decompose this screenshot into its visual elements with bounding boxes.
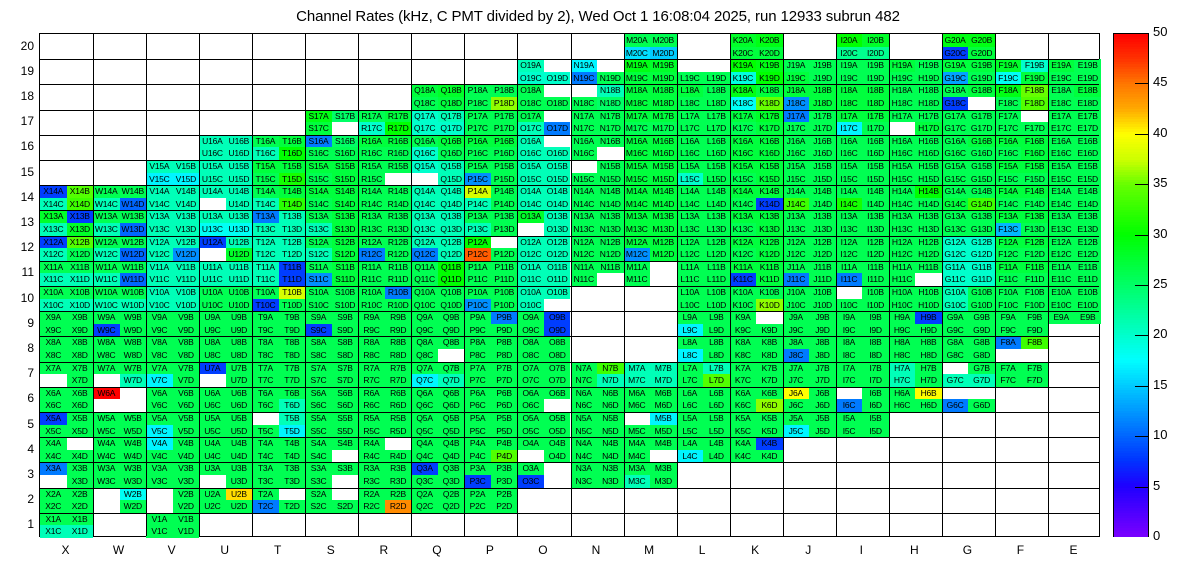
- heatmap-cell: H8B: [915, 336, 942, 349]
- heatmap-cell: F17C: [995, 122, 1022, 135]
- heatmap-cell: S4A: [305, 437, 332, 450]
- heatmap-cell: H11B: [915, 261, 942, 274]
- heatmap-cell: V10D: [173, 299, 200, 312]
- heatmap-cell: M16B: [650, 135, 677, 148]
- heatmap-cell: M4A: [624, 437, 651, 450]
- heatmap-cell: M6C: [624, 399, 651, 412]
- heatmap-cell: J7C: [783, 374, 810, 387]
- x-axis-tick-label: S: [311, 543, 351, 557]
- heatmap-cell: P13B: [491, 210, 518, 223]
- heatmap-cell: S10C: [305, 299, 332, 312]
- heatmap-cell: M11C: [624, 273, 651, 286]
- heatmap-cell: W14D: [120, 198, 147, 211]
- heatmap-cell: U2D: [226, 500, 253, 513]
- heatmap-cell: V7A: [146, 362, 173, 375]
- heatmap-cell: V7B: [173, 362, 200, 375]
- colorbar-tick-label: 40: [1153, 125, 1167, 140]
- y-axis-tick-label: 18: [4, 89, 34, 103]
- heatmap-cell: M15C: [624, 173, 651, 186]
- heatmap-cell: T16A: [252, 135, 279, 148]
- heatmap-cell: S9C: [305, 324, 332, 337]
- heatmap-cell: N3A: [571, 462, 598, 475]
- heatmap-cell: L8A: [677, 336, 704, 349]
- heatmap-cell: F14C: [995, 198, 1022, 211]
- heatmap-cell: Q6B: [438, 387, 465, 400]
- heatmap-cell: Q3C: [411, 475, 438, 488]
- heatmap-cell: F15B: [1021, 160, 1048, 173]
- heatmap-cell: G17A: [942, 110, 969, 123]
- x-axis-tick-label: N: [576, 543, 616, 557]
- heatmap-cell: H13D: [915, 223, 942, 236]
- heatmap-cell: O6B: [544, 387, 571, 400]
- heatmap-cell: L12D: [703, 248, 730, 261]
- heatmap-cell: I13D: [862, 223, 889, 236]
- heatmap-cell: J6B: [809, 387, 836, 400]
- heatmap-cell: Q11D: [438, 273, 465, 286]
- heatmap-cell: O15D: [544, 173, 571, 186]
- heatmap-cell: W4C: [93, 450, 120, 463]
- heatmap-cell: K6A: [730, 387, 757, 400]
- heatmap-cell: Q16B: [438, 135, 465, 148]
- heatmap-cell: H6B: [915, 387, 942, 400]
- heatmap-cell: J13B: [809, 210, 836, 223]
- heatmap-cell: H17A: [889, 110, 916, 123]
- heatmap-cell: Q10D: [438, 299, 465, 312]
- heatmap-cell: U15B: [226, 160, 253, 173]
- heatmap-cell: U8D: [226, 349, 253, 362]
- heatmap-cell: G9C: [942, 324, 969, 337]
- heatmap-cell: O7C: [517, 374, 544, 387]
- heatmap-cell: I19B: [862, 59, 889, 72]
- heatmap-cell: M3C: [624, 475, 651, 488]
- heatmap-cell: O5B: [544, 412, 571, 425]
- heatmap-cell: J18D: [809, 97, 836, 110]
- heatmap-cell: M11A: [624, 261, 651, 274]
- heatmap-cell: W4B: [120, 437, 147, 450]
- heatmap-cell: Q5A: [411, 412, 438, 425]
- heatmap-cell: P11D: [491, 273, 518, 286]
- heatmap-cell: X3D: [67, 475, 94, 488]
- heatmap-cell: Q2D: [438, 500, 465, 513]
- heatmap-cell: O13A: [517, 210, 544, 223]
- heatmap-cell: R16C: [358, 147, 385, 160]
- heatmap-cell: G11B: [968, 261, 995, 274]
- heatmap-cell: T12C: [252, 248, 279, 261]
- heatmap-cell: V3B: [173, 462, 200, 475]
- heatmap-cell: I12B: [862, 236, 889, 249]
- heatmap-cell: T16D: [279, 147, 306, 160]
- heatmap-cell: P6D: [491, 399, 518, 412]
- heatmap-cell: S6B: [332, 387, 359, 400]
- heatmap-cell: K12D: [756, 248, 783, 261]
- heatmap-cell: V5D: [173, 425, 200, 438]
- heatmap-cell: P8A: [464, 336, 491, 349]
- heatmap-cell: T16C: [252, 147, 279, 160]
- heatmap-cell: L10C: [677, 299, 704, 312]
- heatmap-cell: F11D: [1021, 273, 1048, 286]
- heatmap-cell: T3A: [252, 462, 279, 475]
- heatmap-cell: P7B: [491, 362, 518, 375]
- heatmap-cell: M14A: [624, 185, 651, 198]
- heatmap-cell: M4C: [624, 450, 651, 463]
- heatmap-cell: M12B: [650, 236, 677, 249]
- heatmap-cell: G6D: [968, 399, 995, 412]
- heatmap-cell: K20C: [730, 47, 757, 60]
- heatmap-cell: P2B: [491, 488, 518, 501]
- heatmap-cell: P6A: [464, 387, 491, 400]
- heatmap-cell: E12D: [1074, 248, 1101, 261]
- colorbar-tick-mark: [1135, 285, 1149, 286]
- x-axis-tick-label: J: [788, 543, 828, 557]
- heatmap-cell: P18C: [464, 97, 491, 110]
- heatmap-cell: N15D: [597, 173, 624, 186]
- heatmap-cell: K15D: [756, 173, 783, 186]
- heatmap-cell: M5B: [650, 412, 677, 425]
- heatmap-cell: L4C: [677, 450, 704, 463]
- heatmap-cell: W6A: [93, 387, 120, 400]
- heatmap-cell: I7C: [836, 374, 863, 387]
- y-axis-tick-label: 20: [4, 39, 34, 53]
- heatmap-cell: K8C: [730, 349, 757, 362]
- heatmap-cell: N18C: [571, 97, 598, 110]
- heatmap-cell: I15D: [862, 173, 889, 186]
- heatmap-cell: P11B: [491, 261, 518, 274]
- heatmap-cell: W9A: [93, 311, 120, 324]
- heatmap-cell: H7C: [889, 374, 916, 387]
- heatmap-cell: M16D: [650, 147, 677, 160]
- heatmap-cell: L8C: [677, 349, 704, 362]
- heatmap-cell: K11B: [756, 261, 783, 274]
- heatmap-cell: M3B: [650, 462, 677, 475]
- heatmap-cell: O18C: [517, 97, 544, 110]
- heatmap-cell: S14C: [305, 198, 332, 211]
- heatmap-cell: M14B: [650, 185, 677, 198]
- heatmap-cell: S14D: [332, 198, 359, 211]
- heatmap-cell: F9B: [1021, 311, 1048, 324]
- heatmap-cell: W5A: [93, 412, 120, 425]
- heatmap-cell: N12B: [597, 236, 624, 249]
- heatmap-cell: N16B: [597, 135, 624, 148]
- heatmap-cell: M14C: [624, 198, 651, 211]
- heatmap-cell: J13D: [809, 223, 836, 236]
- heatmap-cell: R7D: [385, 374, 412, 387]
- heatmap-cell: J11C: [783, 273, 810, 286]
- y-axis-tick-label: 3: [4, 467, 34, 481]
- heatmap-cell: O4A: [517, 437, 544, 450]
- heatmap-cell: I9A: [836, 311, 863, 324]
- heatmap-cell: W7D: [120, 374, 147, 387]
- heatmap-cell: T13C: [252, 223, 279, 236]
- heatmap-cell: T14B: [279, 185, 306, 198]
- x-axis-tick-label: H: [894, 543, 934, 557]
- heatmap-cell: N14C: [571, 198, 598, 211]
- heatmap-cell: O7D: [544, 374, 571, 387]
- heatmap-cell: F15A: [995, 160, 1022, 173]
- heatmap-cell: E12A: [1048, 236, 1075, 249]
- heatmap-cell: N3B: [597, 462, 624, 475]
- heatmap-cell: S16B: [332, 135, 359, 148]
- heatmap-cell: K13A: [730, 210, 757, 223]
- heatmap-cell: L13B: [703, 210, 730, 223]
- heatmap-cell: G16D: [968, 147, 995, 160]
- heatmap-cell: R6A: [358, 387, 385, 400]
- heatmap-cell: N7B: [597, 362, 624, 375]
- heatmap-cell: O6A: [517, 387, 544, 400]
- heatmap-cell: P3A: [464, 462, 491, 475]
- heatmap-cell: Q5D: [438, 425, 465, 438]
- heatmap-cell: J8D: [809, 349, 836, 362]
- heatmap-cell: E14D: [1074, 198, 1101, 211]
- heatmap-cell: O11D: [544, 273, 571, 286]
- heatmap-cell: S7A: [305, 362, 332, 375]
- y-axis-tick-label: 10: [4, 291, 34, 305]
- heatmap-cell: N16A: [571, 135, 598, 148]
- heatmap-cell: W13B: [120, 210, 147, 223]
- heatmap-cell: T15C: [252, 173, 279, 186]
- heatmap-cell: K14C: [730, 198, 757, 211]
- x-axis-tick-label: T: [258, 543, 298, 557]
- heatmap-cell: P6B: [491, 387, 518, 400]
- heatmap-cell: J12C: [783, 248, 810, 261]
- heatmap-cell: G14C: [942, 198, 969, 211]
- heatmap-cell: T15A: [252, 160, 279, 173]
- colorbar-tick-label: 10: [1153, 427, 1167, 442]
- heatmap-cell: R5D: [385, 425, 412, 438]
- heatmap-cell: G9A: [942, 311, 969, 324]
- heatmap-cell: X4C: [40, 450, 67, 463]
- heatmap-cell: R5B: [385, 412, 412, 425]
- heatmap-cell: H17D: [915, 122, 942, 135]
- heatmap-cell: P5B: [491, 412, 518, 425]
- heatmap-cell: K5A: [730, 412, 757, 425]
- heatmap-cell: F16A: [995, 135, 1022, 148]
- heatmap-cell: I18C: [836, 97, 863, 110]
- heatmap-cell: U10A: [199, 286, 226, 299]
- heatmap-cell: R10C: [358, 299, 385, 312]
- heatmap-cell: Q11B: [438, 261, 465, 274]
- heatmap-cell: J18A: [783, 84, 810, 97]
- heatmap-cell: R15B: [385, 160, 412, 173]
- heatmap-cell: R4C: [358, 450, 385, 463]
- heatmap-cell: P3C: [464, 475, 491, 488]
- heatmap-cell: I5C: [836, 425, 863, 438]
- heatmap-cell: S11C: [305, 273, 332, 286]
- heatmap-cell: X12A: [40, 236, 67, 249]
- heatmap-cell: F13A: [995, 210, 1022, 223]
- heatmap-cell: N16C: [571, 147, 598, 160]
- heatmap-cell: J6C: [783, 399, 810, 412]
- heatmap-cell: S8D: [332, 349, 359, 362]
- heatmap-cell: K4C: [730, 450, 757, 463]
- heatmap-cell: I19C: [836, 72, 863, 85]
- heatmap-cell: M7A: [624, 362, 651, 375]
- heatmap-cell: O16D: [544, 147, 571, 160]
- heatmap-cell: K8D: [756, 349, 783, 362]
- x-axis-tick-label: U: [205, 543, 245, 557]
- heatmap-cell: P12A: [464, 236, 491, 249]
- heatmap-cell: K18D: [756, 97, 783, 110]
- heatmap-cell: J16A: [783, 135, 810, 148]
- y-axis-tick-label: 8: [4, 341, 34, 355]
- heatmap-cell: J9C: [783, 324, 810, 337]
- heatmap-cell: S15A: [305, 160, 332, 173]
- heatmap-cell: E18C: [1048, 97, 1075, 110]
- heatmap-cell: E15D: [1074, 173, 1101, 186]
- heatmap-cell: L5A: [677, 412, 704, 425]
- heatmap-cell: T8C: [252, 349, 279, 362]
- heatmap-cell: M3D: [650, 475, 677, 488]
- heatmap-cell: H11C: [889, 273, 916, 286]
- heatmap-cell: L12C: [677, 248, 704, 261]
- heatmap-cell: P7A: [464, 362, 491, 375]
- heatmap-cell: X8A: [40, 336, 67, 349]
- heatmap-cell: Q4C: [411, 450, 438, 463]
- heatmap-cell: E17C: [1048, 122, 1075, 135]
- heatmap-cell: Q6A: [411, 387, 438, 400]
- heatmap-cell: L14D: [703, 198, 730, 211]
- heatmap-cell: X6A: [40, 387, 67, 400]
- heatmap-cell: Q13B: [438, 210, 465, 223]
- heatmap-cell: T4B: [279, 437, 306, 450]
- heatmap-cell: V5A: [146, 412, 173, 425]
- heatmap-cell: N7A: [571, 362, 598, 375]
- heatmap-cell: R10B: [385, 286, 412, 299]
- heatmap-cell: K20D: [756, 47, 783, 60]
- heatmap-cell: F17D: [1021, 122, 1048, 135]
- heatmap-cell: Q2C: [411, 500, 438, 513]
- heatmap-cell: V1B: [173, 513, 200, 526]
- heatmap-cell: K18B: [756, 84, 783, 97]
- heatmap-cell: R14A: [358, 185, 385, 198]
- heatmap-cell: R16B: [385, 135, 412, 148]
- heatmap-cell: U6C: [199, 399, 226, 412]
- heatmap-cell: W8C: [93, 349, 120, 362]
- colorbar-tick-mark: [1135, 83, 1149, 84]
- heatmap-cell: R17B: [385, 110, 412, 123]
- heatmap-cell: G10D: [968, 299, 995, 312]
- heatmap-cell: T2C: [252, 500, 279, 513]
- heatmap-cell: W5B: [120, 412, 147, 425]
- heatmap-cell: J9B: [809, 311, 836, 324]
- heatmap-cell: J6A: [783, 387, 810, 400]
- y-axis: 2019181716151413121110987654321: [0, 33, 34, 537]
- heatmap-cell: K5D: [756, 425, 783, 438]
- heatmap-cell: K11D: [756, 273, 783, 286]
- heatmap-cell: I8C: [836, 349, 863, 362]
- heatmap-cell: E16A: [1048, 135, 1075, 148]
- heatmap-cell: R2A: [358, 488, 385, 501]
- heatmap-cell: M5D: [650, 425, 677, 438]
- heatmap-cell: H15D: [915, 173, 942, 186]
- heatmap-cell: F12A: [995, 236, 1022, 249]
- heatmap-cell: U6D: [226, 399, 253, 412]
- heatmap-cell: U2A: [199, 488, 226, 501]
- heatmap-cell: J15C: [783, 173, 810, 186]
- heatmap-cell: K9D: [756, 324, 783, 337]
- heatmap-cell: N6A: [571, 387, 598, 400]
- heatmap-cell: L13D: [703, 223, 730, 236]
- heatmap-cell: T10C: [252, 299, 279, 312]
- heatmap-cell: G19A: [942, 59, 969, 72]
- heatmap-cell: S7C: [305, 374, 332, 387]
- heatmap-cell: X14D: [67, 198, 94, 211]
- heatmap-cell: T9D: [279, 324, 306, 337]
- heatmap-cell: G19C: [942, 72, 969, 85]
- heatmap-cell: Q12B: [438, 236, 465, 249]
- heatmap-cell: S8C: [305, 349, 332, 362]
- heatmap-cell: M19A: [624, 59, 651, 72]
- heatmap-cell: Q14B: [438, 185, 465, 198]
- heatmap-cell: P13D: [491, 223, 518, 236]
- heatmap-cell: S4B: [332, 437, 359, 450]
- x-axis-tick-label: W: [99, 543, 139, 557]
- heatmap-cell: P13A: [464, 210, 491, 223]
- heatmap-cell: Q9C: [411, 324, 438, 337]
- heatmap-cell: F8B: [1021, 336, 1048, 349]
- heatmap-cell: K13D: [756, 223, 783, 236]
- heatmap-cell: W12C: [93, 248, 120, 261]
- heatmap-cell: P2A: [464, 488, 491, 501]
- heatmap-cell: U2B: [226, 488, 253, 501]
- heatmap-cell: I14C: [836, 198, 863, 211]
- heatmap-cell: V10C: [146, 299, 173, 312]
- heatmap-cell: V11D: [173, 273, 200, 286]
- heatmap-cell: S11A: [305, 261, 332, 274]
- heatmap-cell: H13A: [889, 210, 916, 223]
- heatmap-cell: V5B: [173, 412, 200, 425]
- heatmap-cell: I10C: [836, 299, 863, 312]
- heatmap-cell: Q17C: [411, 122, 438, 135]
- heatmap-cell: L14A: [677, 185, 704, 198]
- heatmap-cell: V14C: [146, 198, 173, 211]
- heatmap-cell: E11C: [1048, 273, 1075, 286]
- heatmap-cell: P10D: [491, 299, 518, 312]
- heatmap-cell: N5B: [597, 412, 624, 425]
- heatmap-cell: Q17A: [411, 110, 438, 123]
- heatmap-cell: X10D: [67, 299, 94, 312]
- heatmap-cell: K19A: [730, 59, 757, 72]
- heatmap-cell: I7A: [836, 362, 863, 375]
- heatmap-cell: P10A: [464, 286, 491, 299]
- heatmap-cell: X13B: [67, 210, 94, 223]
- heatmap-cell: X6D: [67, 399, 94, 412]
- heatmap-cell: L10D: [703, 299, 730, 312]
- heatmap-cell: E11A: [1048, 261, 1075, 274]
- heatmap-cell: S16D: [332, 147, 359, 160]
- heatmap-cell: N19C: [571, 72, 598, 85]
- heatmap-cell: P9A: [464, 311, 491, 324]
- y-axis-tick-label: 15: [4, 165, 34, 179]
- heatmap-cell: K7A: [730, 362, 757, 375]
- heatmap-cell: R10A: [358, 286, 385, 299]
- heatmap-cell: V6A: [146, 387, 173, 400]
- heatmap-cell: K14B: [756, 185, 783, 198]
- heatmap-cell: T10A: [252, 286, 279, 299]
- heatmap-cell: R3C: [358, 475, 385, 488]
- heatmap-cell: U3A: [199, 462, 226, 475]
- heatmap-cell: X1C: [40, 525, 67, 538]
- heatmap-cell: K16B: [756, 135, 783, 148]
- heatmap-cell: U10C: [199, 299, 226, 312]
- heatmap-cell: V13B: [173, 210, 200, 223]
- heatmap-cell: I5B: [862, 412, 889, 425]
- heatmap-cell: T3C: [252, 475, 279, 488]
- heatmap-cell: V12B: [173, 236, 200, 249]
- heatmap-cell: F13B: [1021, 210, 1048, 223]
- heatmap-cell: L5D: [703, 425, 730, 438]
- heatmap-cell: I19A: [836, 59, 863, 72]
- heatmap-cell: H11A: [889, 261, 916, 274]
